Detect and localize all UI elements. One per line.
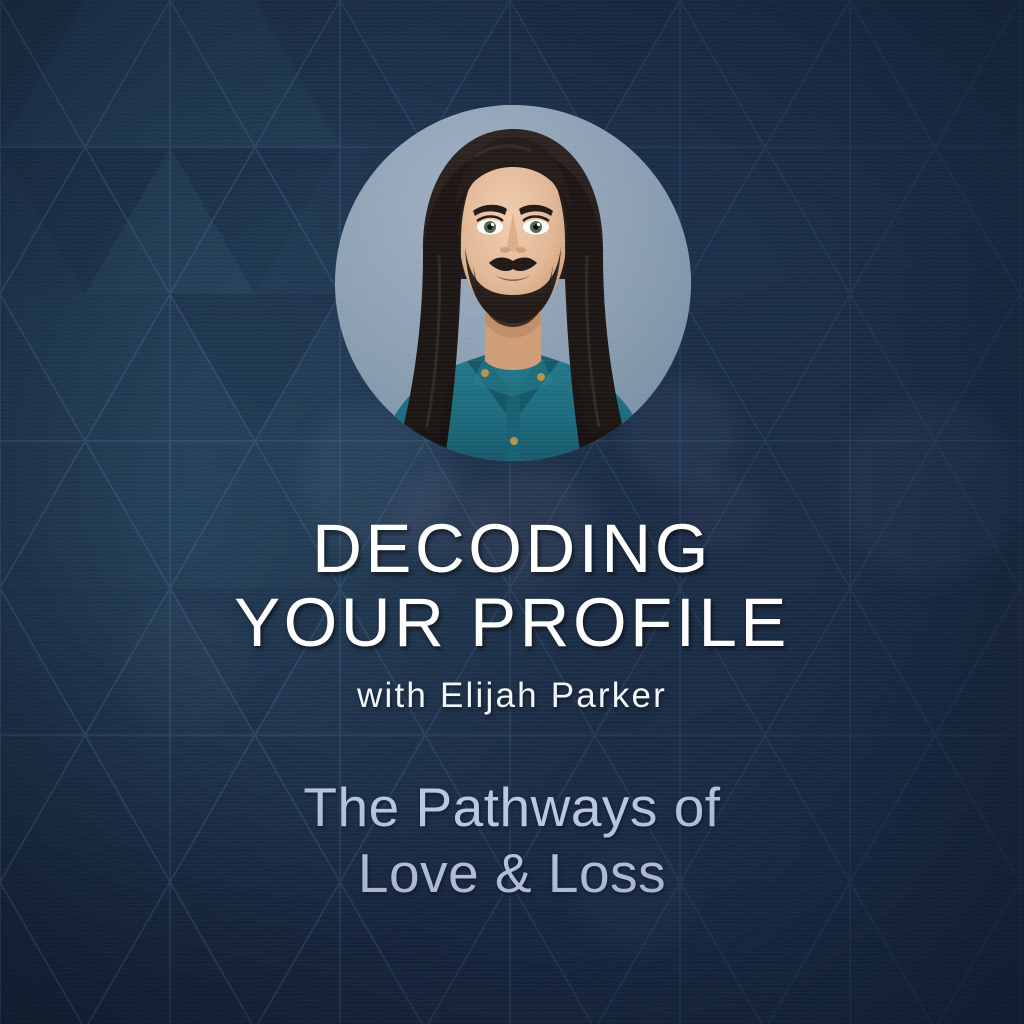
host-byline: with Elijah Parker [0,676,1024,716]
episode-title: DECODING YOUR PROFILE [0,512,1024,660]
episode-subtitle: The Pathways of Love & Loss [0,774,1024,906]
subtitle-line-2: Love & Loss [0,840,1024,906]
text-block: DECODING YOUR PROFILE with Elijah Parker… [0,512,1024,906]
podcast-episode-poster: DECODING YOUR PROFILE with Elijah Parker… [0,0,1024,1024]
title-line-2: YOUR PROFILE [0,586,1024,660]
host-portrait [335,105,691,461]
title-line-1: DECODING [0,512,1024,586]
subtitle-line-1: The Pathways of [0,774,1024,840]
